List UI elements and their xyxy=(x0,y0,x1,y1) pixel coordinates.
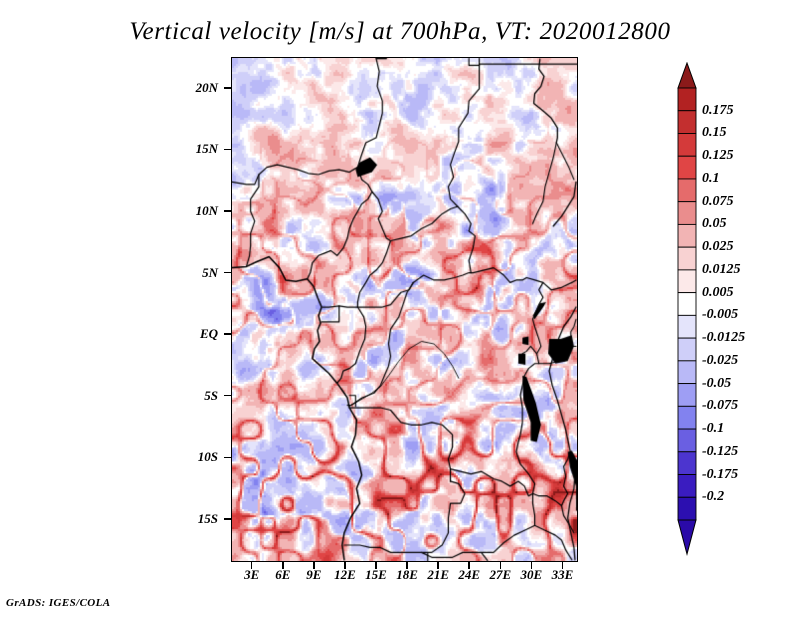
colorbar-band xyxy=(678,315,696,338)
colorbar-tick-label: 0.15 xyxy=(702,125,727,141)
colorbar-tick-label: 0.125 xyxy=(702,148,734,164)
colorbar-band xyxy=(678,133,696,156)
y-axis-tick xyxy=(224,210,231,212)
colorbar-band xyxy=(678,384,696,407)
x-axis-label: 12E xyxy=(334,567,356,583)
colorbar-over-range-cap xyxy=(678,63,696,88)
x-axis-label: 24E xyxy=(458,567,480,583)
colorbar-tick-label: 0.0125 xyxy=(702,262,741,278)
y-axis-label: 15N xyxy=(196,141,218,157)
page-title: Vertical velocity [m/s] at 700hPa, VT: 2… xyxy=(0,18,800,46)
colorbar-tick-label: 0.005 xyxy=(702,285,734,301)
x-axis-label: 21E xyxy=(427,567,449,583)
colorbar-tick-label: 0.05 xyxy=(702,216,727,232)
colorbar-tick-label: -0.0125 xyxy=(702,330,745,346)
y-axis-label: 15S xyxy=(198,511,218,527)
y-axis-tick xyxy=(224,149,231,151)
x-axis-label: 9E xyxy=(306,567,321,583)
colorbar-band xyxy=(678,293,696,316)
colorbar xyxy=(677,62,697,556)
y-axis-tick xyxy=(224,395,231,397)
colorbar-tick-label: -0.025 xyxy=(702,353,738,369)
x-axis-label: 18E xyxy=(396,567,418,583)
colorbar-band xyxy=(678,497,696,520)
colorbar-band xyxy=(678,88,696,111)
colorbar-band xyxy=(678,429,696,452)
colorbar-band xyxy=(678,247,696,270)
colorbar-band xyxy=(678,179,696,202)
colorbar-band xyxy=(678,406,696,429)
colorbar-band xyxy=(678,452,696,475)
colorbar-band xyxy=(678,270,696,293)
colorbar-tick-label: 0.075 xyxy=(702,194,734,210)
colorbar-band xyxy=(678,361,696,384)
y-axis-tick xyxy=(224,518,231,520)
x-axis-label: 3E xyxy=(244,567,259,583)
y-axis-label: 5N xyxy=(202,265,218,281)
colorbar-tick-label: -0.125 xyxy=(702,444,738,460)
colorbar-band xyxy=(678,475,696,498)
colorbar-tick-label: -0.05 xyxy=(702,376,731,392)
x-axis-label: 27E xyxy=(489,567,511,583)
y-axis-label: EQ xyxy=(200,326,218,342)
x-axis-label: 33E xyxy=(552,567,574,583)
colorbar-band xyxy=(678,338,696,361)
colorbar-tick-label: 0.1 xyxy=(702,171,720,187)
colorbar-tick-label: 0.175 xyxy=(702,103,734,119)
country-borders-overlay xyxy=(232,58,577,561)
colorbar-band xyxy=(678,111,696,134)
y-axis-tick xyxy=(224,272,231,274)
y-axis-label: 10N xyxy=(196,203,218,219)
x-axis-label: 30E xyxy=(521,567,543,583)
y-axis-label: 5S xyxy=(204,388,218,404)
colorbar-band xyxy=(678,202,696,225)
y-axis-label: 10S xyxy=(198,449,218,465)
colorbar-tick-label: -0.1 xyxy=(702,421,724,437)
colorbar-band xyxy=(678,224,696,247)
y-axis-tick xyxy=(224,457,231,459)
colorbar-tick-label: -0.2 xyxy=(702,489,724,505)
colorbar-tick-label: 0.025 xyxy=(702,239,734,255)
x-axis-label: 6E xyxy=(275,567,290,583)
y-axis-tick xyxy=(224,333,231,335)
colorbar-under-range-cap xyxy=(678,520,696,554)
x-axis-label: 15E xyxy=(365,567,387,583)
colorbar-tick-label: -0.005 xyxy=(702,307,738,323)
colorbar-tick-label: -0.175 xyxy=(702,467,738,483)
y-axis-label: 20N xyxy=(196,80,218,96)
y-axis-tick xyxy=(224,87,231,89)
map-plot-area xyxy=(231,57,578,562)
colorbar-band xyxy=(678,156,696,179)
attribution-text: GrADS: IGES/COLA xyxy=(6,597,111,609)
colorbar-tick-label: -0.075 xyxy=(702,398,738,414)
